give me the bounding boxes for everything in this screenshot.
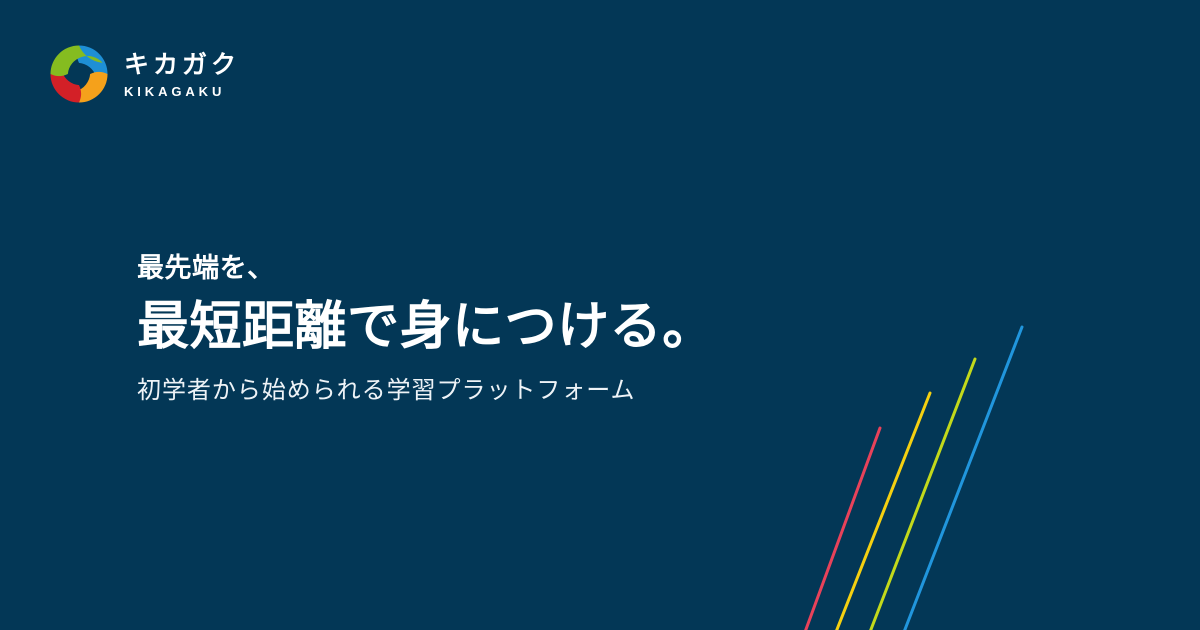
hero-subtitle: 初学者から始められる学習プラットフォーム	[137, 374, 777, 408]
lime-line	[870, 359, 975, 630]
brand-wordmark: キカガク KIKAGAKU	[124, 49, 240, 99]
hero-copy-block: 最先端を、 最短距離で身につける。 初学者から始められる学習プラットフォーム	[137, 250, 777, 407]
brand-romaji-name: KIKAGAKU	[124, 85, 240, 99]
brand-lockup: キカガク KIKAGAKU	[48, 43, 240, 105]
hero-headline: 最短距離で身につける。	[137, 296, 777, 359]
red-line	[805, 428, 880, 630]
kikagaku-swirl-logo-icon	[48, 43, 110, 105]
brand-kana-name: キカガク	[124, 52, 240, 78]
og-image-canvas: キカガク KIKAGAKU 最先端を、 最短距離で身につける。 初学者から始めら…	[0, 0, 1200, 630]
yellow-line	[836, 393, 930, 630]
hero-kicker: 最先端を、	[137, 250, 777, 286]
blue-line	[904, 327, 1022, 630]
